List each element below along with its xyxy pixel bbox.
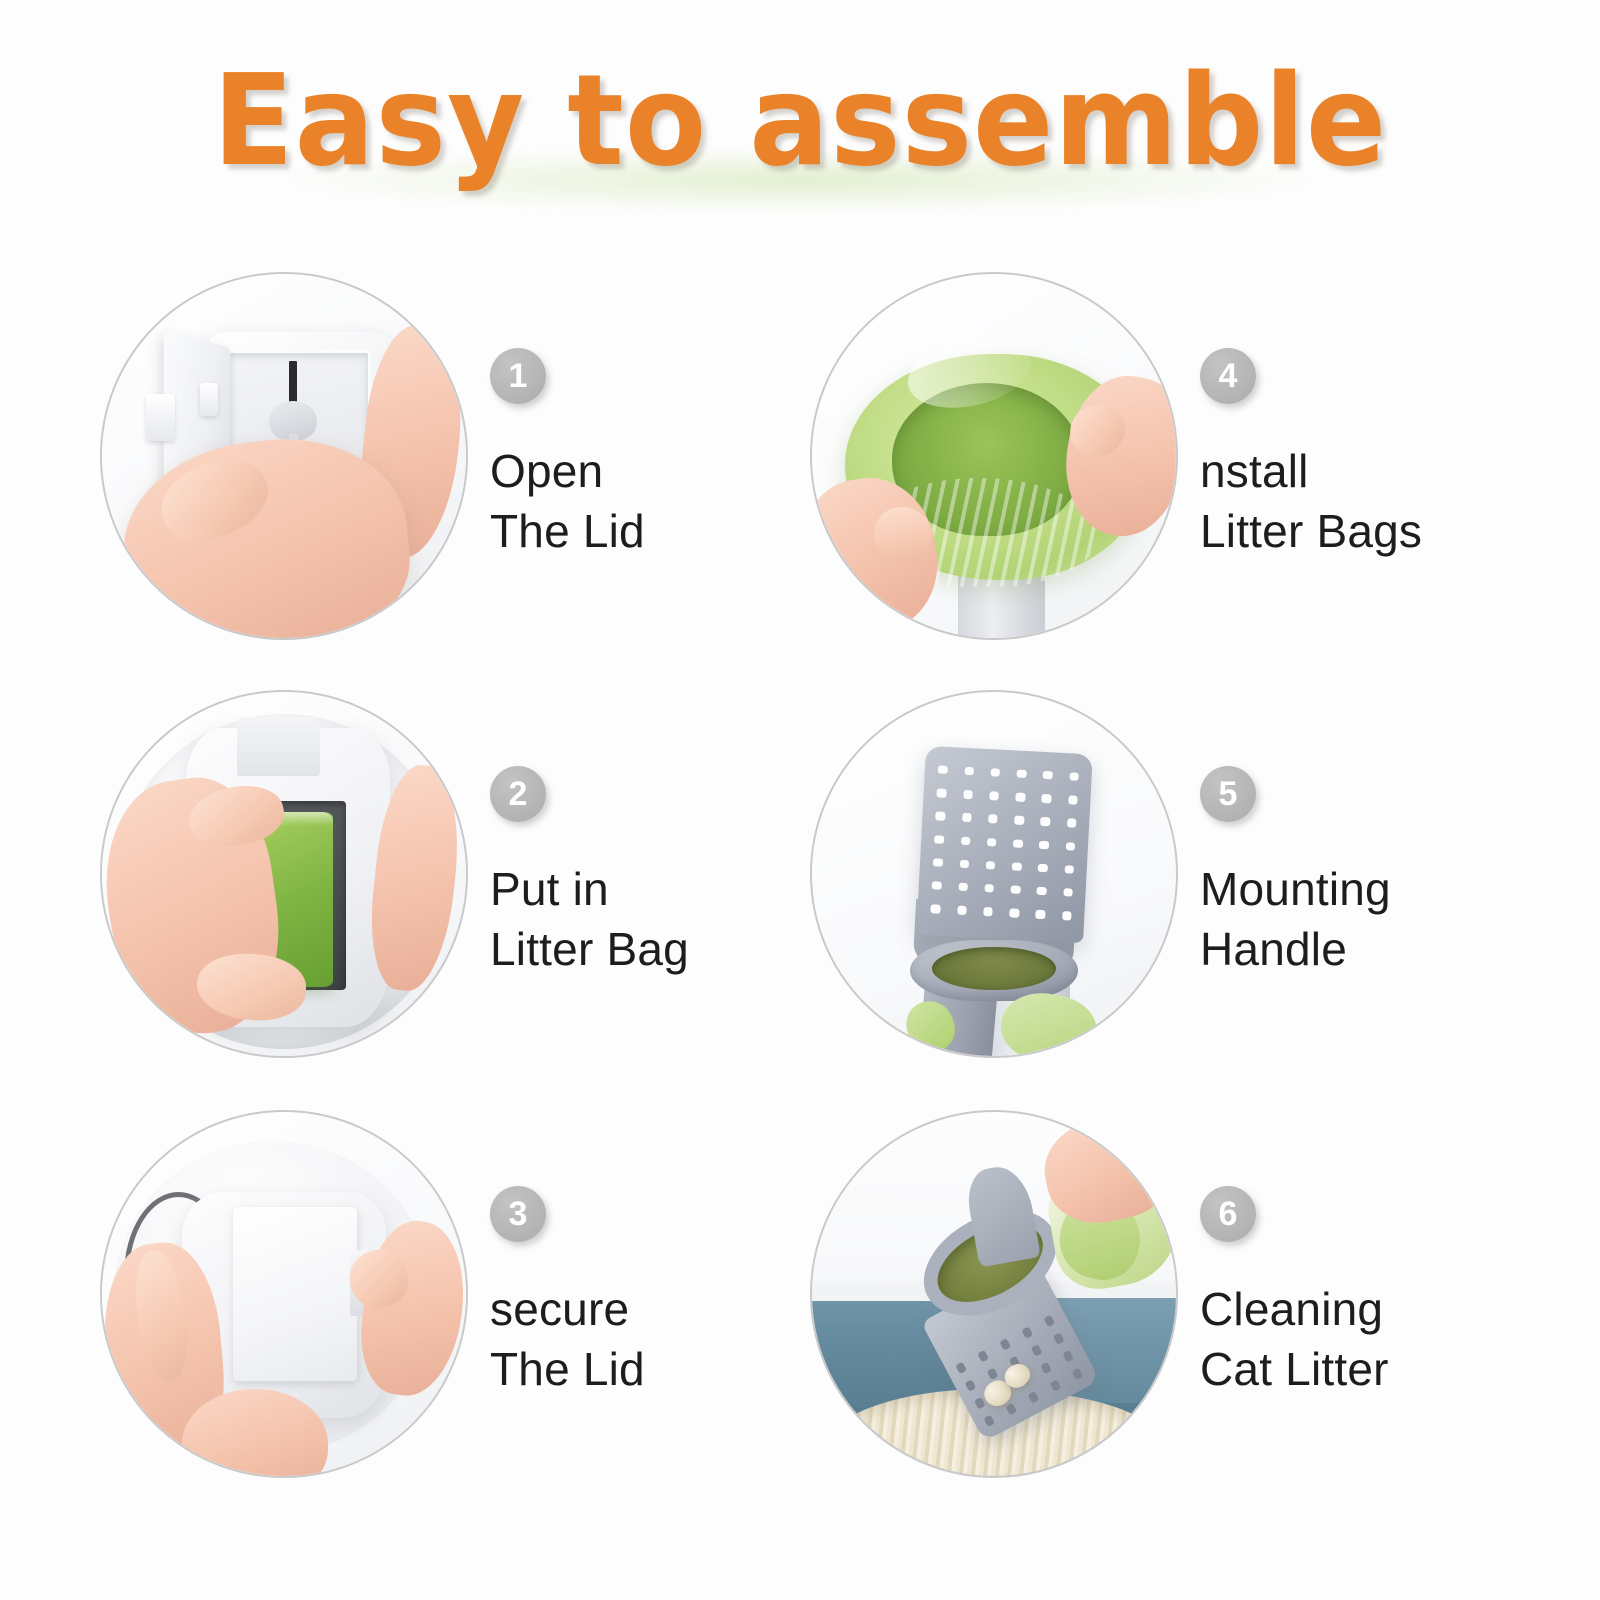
step-1-label: Open The Lid — [490, 442, 810, 562]
illustration-mounting-handle — [812, 692, 1176, 1056]
illustration-cleaning-cat-litter — [812, 1112, 1176, 1476]
step-2: 2 Put in Litter Bag — [78, 690, 818, 1110]
step-5-label: Mounting Handle — [1200, 860, 1520, 980]
step-2-caption: 2 Put in Litter Bag — [490, 766, 810, 980]
step-1-photo — [100, 272, 468, 640]
page-title: Easy to assemble — [48, 58, 1552, 184]
step-3-caption: 3 secure The Lid — [490, 1186, 810, 1400]
step-6-photo — [810, 1110, 1178, 1478]
step-4-number-badge: 4 — [1200, 348, 1256, 404]
step-2-label: Put in Litter Bag — [490, 860, 810, 980]
illustration-secure-lid — [102, 1112, 466, 1476]
step-1: 1 Open The Lid — [78, 272, 818, 692]
illustration-install-litter-bags — [812, 274, 1176, 638]
step-5-caption: 5 Mounting Handle — [1200, 766, 1520, 980]
step-4-photo — [810, 272, 1178, 640]
step-3-photo — [100, 1110, 468, 1478]
step-6-caption: 6 Cleaning Cat Litter — [1200, 1186, 1520, 1400]
step-1-number-badge: 1 — [490, 348, 546, 404]
step-3-number-badge: 3 — [490, 1186, 546, 1242]
step-3-label: secure The Lid — [490, 1280, 810, 1400]
header: Easy to assemble — [0, 0, 1600, 235]
steps-grid: 1 Open The Lid — [0, 262, 1600, 1592]
step-2-photo — [100, 690, 468, 1058]
step-4-label: nstall Litter Bags — [1200, 442, 1520, 562]
illustration-open-lid — [102, 274, 466, 638]
step-5-photo — [810, 690, 1178, 1058]
step-4-caption: 4 nstall Litter Bags — [1200, 348, 1520, 562]
step-5: 5 Mounting Handle — [788, 690, 1528, 1110]
step-1-caption: 1 Open The Lid — [490, 348, 810, 562]
step-3: 3 secure The Lid — [78, 1110, 818, 1530]
step-6: 6 Cleaning Cat Litter — [788, 1110, 1528, 1530]
step-6-number-badge: 6 — [1200, 1186, 1256, 1242]
infographic-page: Easy to assemble — [0, 0, 1600, 1600]
step-2-number-badge: 2 — [490, 766, 546, 822]
step-4: 4 nstall Litter Bags — [788, 272, 1528, 692]
illustration-put-in-litter-bag — [102, 692, 466, 1056]
step-5-number-badge: 5 — [1200, 766, 1256, 822]
step-6-label: Cleaning Cat Litter — [1200, 1280, 1520, 1400]
